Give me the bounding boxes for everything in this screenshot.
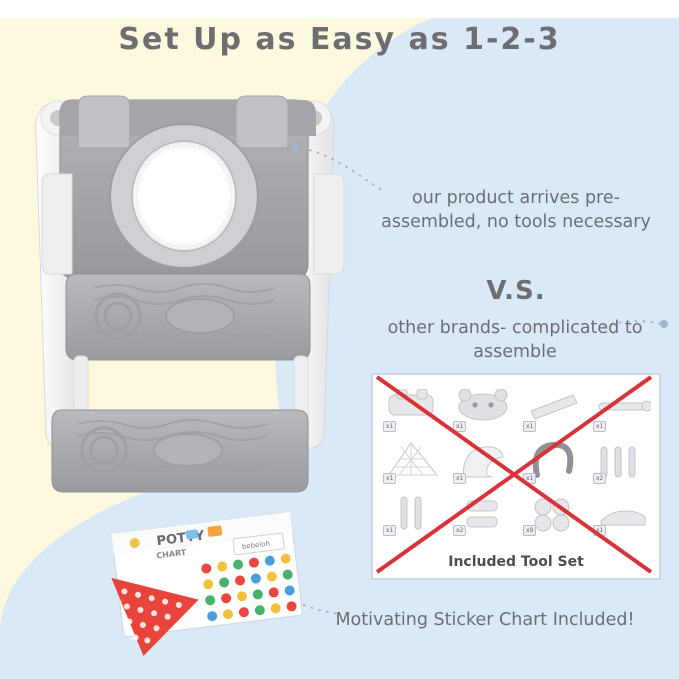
tool-panel-title: Included Tool Set <box>373 554 659 570</box>
tool-cell: x1 <box>381 489 445 537</box>
versus-label: V.S. <box>366 276 666 306</box>
tool-cell: x1 <box>381 437 445 485</box>
tool-qty: x1 <box>453 421 466 432</box>
tool-cell: x1 <box>591 385 655 433</box>
tool-qty: x1 <box>523 421 536 432</box>
tool-cell: x1 <box>451 385 515 433</box>
tool-qty: x1 <box>593 421 606 432</box>
tool-qty: x1 <box>453 473 466 484</box>
callout-sticker-chart: Motivating Sticker Chart Included! <box>300 608 670 632</box>
tool-qty: x1 <box>523 473 536 484</box>
tool-cell: x2 <box>591 437 655 485</box>
tool-cell: x2 <box>451 489 515 537</box>
potty-sticker-chart-image: POTTY CHART bebeloh <box>96 512 326 662</box>
product-infographic: Set Up as Easy as 1-2-3 <box>0 0 679 679</box>
tool-qty: x1 <box>383 421 396 432</box>
tool-qty: x2 <box>453 525 466 536</box>
tool-cell: x1 <box>521 385 585 433</box>
tool-cell: x9 <box>521 489 585 537</box>
background-white-strip <box>0 0 679 18</box>
tool-cell: x1 <box>451 437 515 485</box>
page-title: Set Up as Easy as 1-2-3 <box>0 22 679 57</box>
tool-qty: x1 <box>383 525 396 536</box>
tool-cell: x1 <box>381 385 445 433</box>
tool-qty: x2 <box>593 473 606 484</box>
tool-qty: x9 <box>523 525 536 536</box>
tool-qty: x1 <box>593 525 606 536</box>
included-tool-set-panel: x1 x1 x1 x1 x1 x1 <box>371 373 661 580</box>
callout-other-brands: other brands- complicated to assemble <box>355 316 675 364</box>
tool-cell: x1 <box>591 489 655 537</box>
tool-grid: x1 x1 x1 x1 x1 x1 <box>373 379 659 539</box>
tool-cell: x1 <box>521 437 585 485</box>
callout-pre-assembled: our product arrives pre-assembled, no to… <box>366 186 666 234</box>
tool-qty: x1 <box>383 473 396 484</box>
